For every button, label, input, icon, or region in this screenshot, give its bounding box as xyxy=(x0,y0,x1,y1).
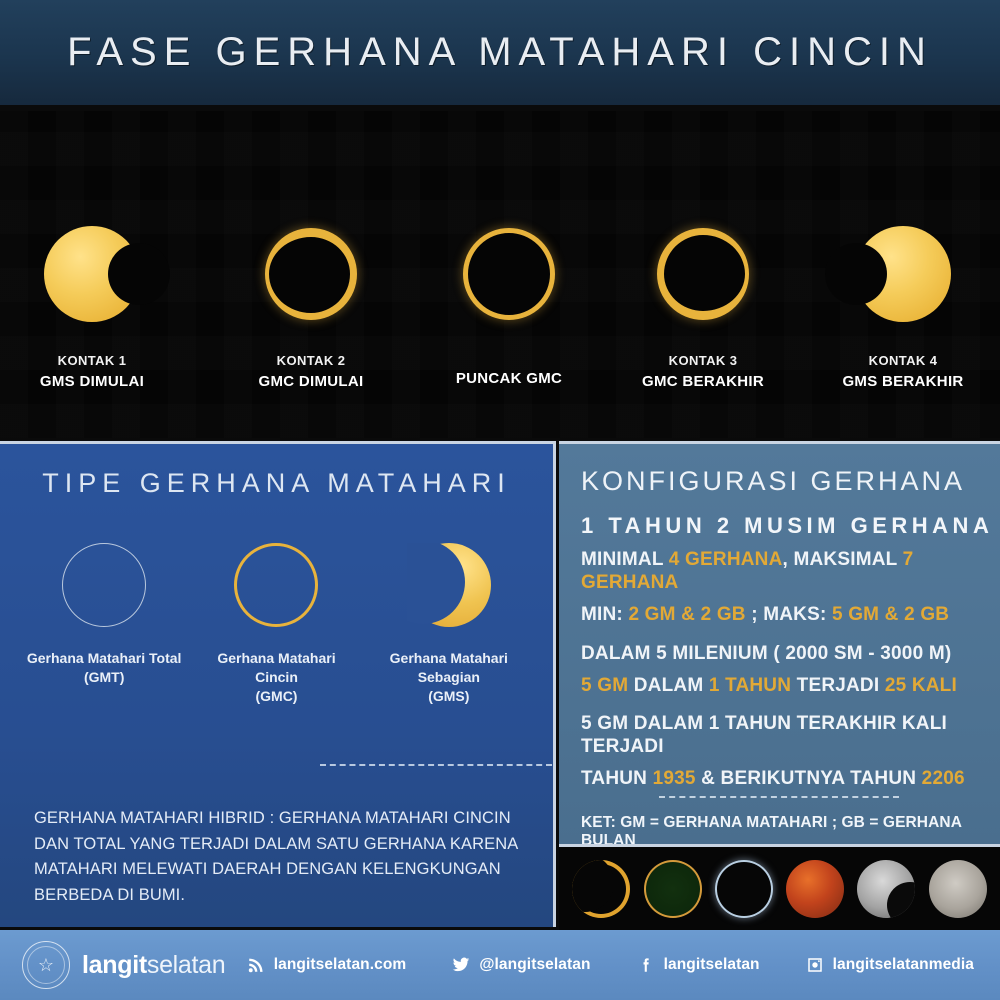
gold-ring-icon xyxy=(196,537,356,633)
type-abbr-label: (GMC) xyxy=(255,688,297,704)
eclipse-type-gms: Gerhana Matahari Sebagian (GMS) xyxy=(369,537,529,706)
social-links: langitselatan.com @langitselatan langits… xyxy=(247,956,974,974)
text-fragment: TAHUN xyxy=(581,768,653,789)
social-label: langitselatan xyxy=(664,956,760,974)
twitter-icon xyxy=(452,956,470,974)
right-panel-title: KONFIGURASI GERHANA xyxy=(581,466,1000,497)
highlight-fragment: 5 GM xyxy=(581,675,628,696)
eclipse-phases-section: KONTAK 1 GMS DIMULAI KONTAK 2 GMC DIMULA… xyxy=(0,111,1000,438)
phase-kontak-label: KONTAK 4 xyxy=(803,353,1000,368)
config-line-terakhir-a: 5 GM DALAM 1 TAHUN TERAKHIR KALI TERJADI xyxy=(581,712,1000,758)
facebook-icon xyxy=(637,956,655,974)
seal-glyph: ☆ xyxy=(38,956,54,974)
config-line-milenium: DALAM 5 MILENIUM ( 2000 SM - 3000 M) xyxy=(581,642,1000,665)
annular-eclipse-thumb xyxy=(572,860,630,918)
phase-desc-label: GMS BERAKHIR xyxy=(803,373,1000,390)
circle-outline-icon xyxy=(24,537,184,633)
highlight-fragment: 4 GERHANA xyxy=(669,549,783,570)
brand-name-bold: langit xyxy=(82,951,147,979)
highlight-fragment: 1 TAHUN xyxy=(709,675,791,696)
social-link-twitter[interactable]: @langitselatan xyxy=(452,956,590,974)
text-fragment: MIN: xyxy=(581,604,628,625)
social-label: langitselatanmedia xyxy=(833,956,974,974)
phase-kontak-label: KONTAK 1 xyxy=(0,353,192,368)
config-line-terakhir-b: TAHUN 1935 & BERIKUTNYA TAHUN 2206 xyxy=(581,767,1000,790)
annular-ring-icon xyxy=(211,199,411,349)
rss-icon xyxy=(247,956,265,974)
highlight-fragment: 1935 xyxy=(653,768,696,789)
sun-bitten-right-icon xyxy=(0,199,192,349)
type-name-label: Gerhana Matahari Sebagian xyxy=(390,650,508,685)
eclipse-configuration-panel: KONFIGURASI GERHANA 1 TAHUN 2 MUSIM GERH… xyxy=(559,441,1000,927)
phase-item-3: PUNCAK GMC xyxy=(409,199,609,387)
type-name-label: Gerhana Matahari Cincin xyxy=(217,650,335,685)
config-line-minimal: MINIMAL 4 GERHANA, MAKSIMAL 7 GERHANA xyxy=(581,548,1000,594)
type-abbr-label: (GMS) xyxy=(428,688,469,704)
phase-item-2: KONTAK 2 GMC DIMULAI xyxy=(211,199,411,390)
highlight-fragment: 2206 xyxy=(922,768,965,789)
instagram-icon xyxy=(806,956,824,974)
social-link-facebook[interactable]: langitselatan xyxy=(637,956,760,974)
right-panel-subtitle: 1 TAHUN 2 MUSIM GERHANA xyxy=(581,513,1000,539)
phase-item-5: KONTAK 4 GMS BERAKHIR xyxy=(803,199,1000,390)
eclipse-thumbnail-strip xyxy=(559,844,1000,930)
type-abbr-label: (GMT) xyxy=(84,669,124,685)
header-bar: FASE GERHANA MATAHARI CINCIN xyxy=(0,0,1000,108)
text-fragment: ; MAKS: xyxy=(746,604,832,625)
annular-ring-centered-icon xyxy=(409,199,609,349)
phase-kontak-label: KONTAK 3 xyxy=(603,353,803,368)
highlight-fragment: 2 GM & 2 GB xyxy=(628,604,745,625)
text-fragment: TERJADI xyxy=(791,675,885,696)
phase-kontak-label: KONTAK 2 xyxy=(211,353,411,368)
footer-bar: ☆ langitselatan langitselatan.com @langi… xyxy=(0,930,1000,1000)
brand-logo[interactable]: ☆ langitselatan xyxy=(22,941,225,989)
social-label: @langitselatan xyxy=(479,956,590,974)
langitselatan-seal-icon: ☆ xyxy=(22,941,70,989)
phase-desc-label: PUNCAK GMC xyxy=(409,370,609,387)
phase-desc-label: GMC DIMULAI xyxy=(211,373,411,390)
phase-desc-label: GMS DIMULAI xyxy=(0,373,192,390)
social-link-website[interactable]: langitselatan.com xyxy=(247,956,407,974)
text-fragment: , MAKSIMAL xyxy=(783,549,903,570)
config-line-5gm: 5 GM DALAM 1 TAHUN TERJADI 25 KALI xyxy=(581,674,1000,697)
highlight-fragment: 25 KALI xyxy=(885,675,957,696)
text-fragment: DALAM xyxy=(628,675,709,696)
phase-desc-label: GMC BERAKHIR xyxy=(603,373,803,390)
infographic-root: FASE GERHANA MATAHARI CINCIN KONTAK 1 GM… xyxy=(0,0,1000,1000)
blood-moon-thumb xyxy=(786,860,844,918)
total-eclipse-diamond-ring-thumb xyxy=(715,860,773,918)
annular-ring-icon xyxy=(603,199,803,349)
social-link-instagram[interactable]: langitselatanmedia xyxy=(806,956,974,974)
highlight-fragment: 5 GM & 2 GB xyxy=(832,604,949,625)
left-panel-divider xyxy=(320,764,552,766)
partial-lunar-eclipse-thumb xyxy=(857,860,915,918)
text-fragment: MINIMAL xyxy=(581,549,669,570)
phase-item-4: KONTAK 3 GMC BERAKHIR xyxy=(603,199,803,390)
eclipse-type-gmt: Gerhana Matahari Total (GMT) xyxy=(24,537,184,706)
phase-item-1: KONTAK 1 GMS DIMULAI xyxy=(0,199,192,390)
brand-name-light: selatan xyxy=(147,951,226,979)
eclipse-types-list: Gerhana Matahari Total (GMT) Gerhana Mat… xyxy=(0,537,553,706)
sun-bitten-left-icon xyxy=(803,199,1000,349)
eclipse-type-gmc: Gerhana Matahari Cincin (GMC) xyxy=(196,537,356,706)
right-panel-divider xyxy=(659,796,899,798)
left-panel-title: TIPE GERHANA MATAHARI xyxy=(0,468,553,499)
hybrid-eclipse-text: GERHANA MATAHARI HIBRID : GERHANA MATAHA… xyxy=(34,806,534,908)
social-label: langitselatan.com xyxy=(274,956,407,974)
type-name-label: Gerhana Matahari Total xyxy=(27,650,182,666)
full-moon-thumb xyxy=(929,860,987,918)
crescent-icon xyxy=(369,537,529,633)
text-fragment: & BERIKUTNYA TAHUN xyxy=(696,768,922,789)
page-title: FASE GERHANA MATAHARI CINCIN xyxy=(67,30,933,75)
annular-ring-green-thumb xyxy=(644,860,702,918)
config-line-min-maks: MIN: 2 GM & 2 GB ; MAKS: 5 GM & 2 GB xyxy=(581,603,1000,626)
